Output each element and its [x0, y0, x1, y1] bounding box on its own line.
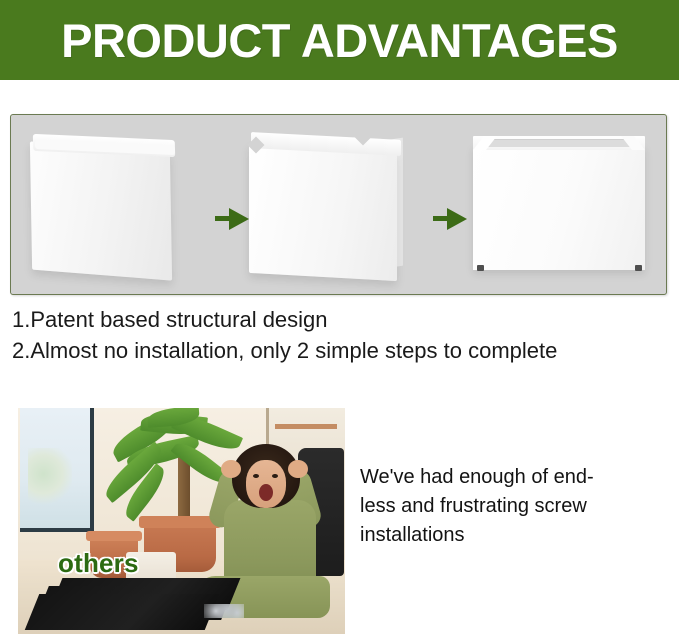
others-comparison-photo: [18, 408, 345, 634]
advantages-list: 1.Patent based structural design 2.Almos…: [12, 304, 672, 366]
panel-front-face: [30, 141, 172, 280]
arrow-right-icon: [447, 208, 467, 230]
box-foot-left: [477, 265, 484, 271]
arrow-right-tail: [433, 216, 447, 221]
assembly-diagram-panel: [10, 114, 667, 295]
photo-person-eye-left: [253, 474, 259, 478]
photo-person-eye-right: [272, 474, 278, 478]
box-inner-opening: [485, 139, 633, 147]
caption-line-1: We've had enough of end-: [360, 463, 640, 492]
page-title: PRODUCT ADVANTAGES: [61, 17, 618, 64]
arrow-right-icon: [229, 208, 249, 230]
photo-scattered-screws: [204, 604, 244, 618]
photo-person-hand-right: [288, 460, 308, 478]
header-banner: PRODUCT ADVANTAGES: [0, 0, 679, 80]
panel-front-face: [249, 143, 397, 281]
advantage-item-1: 1.Patent based structural design: [12, 304, 672, 335]
photo-window-left: [20, 408, 94, 532]
arrow-right-tail: [215, 216, 229, 221]
header-divider: [0, 80, 679, 83]
photo-person-hand-left: [221, 460, 241, 478]
diagram-step-assembled-open-box: [465, 125, 655, 285]
box-foot-right: [635, 265, 642, 271]
caption-line-2: less and frustrating screw: [360, 492, 640, 521]
box-front-face: [473, 145, 645, 270]
photo-person-mouth: [259, 484, 273, 501]
caption-line-3: installations: [360, 521, 640, 550]
advantage-item-2: 2.Almost no installation, only 2 simple …: [12, 335, 672, 366]
others-label: others: [58, 548, 139, 579]
comparison-caption: We've had enough of end- less and frustr…: [360, 463, 640, 550]
diagram-step-flat-folded-panel: [29, 127, 189, 282]
photo-flatpack-panel: [25, 594, 220, 630]
diagram-step-partially-unfolded-panel: [249, 125, 409, 283]
